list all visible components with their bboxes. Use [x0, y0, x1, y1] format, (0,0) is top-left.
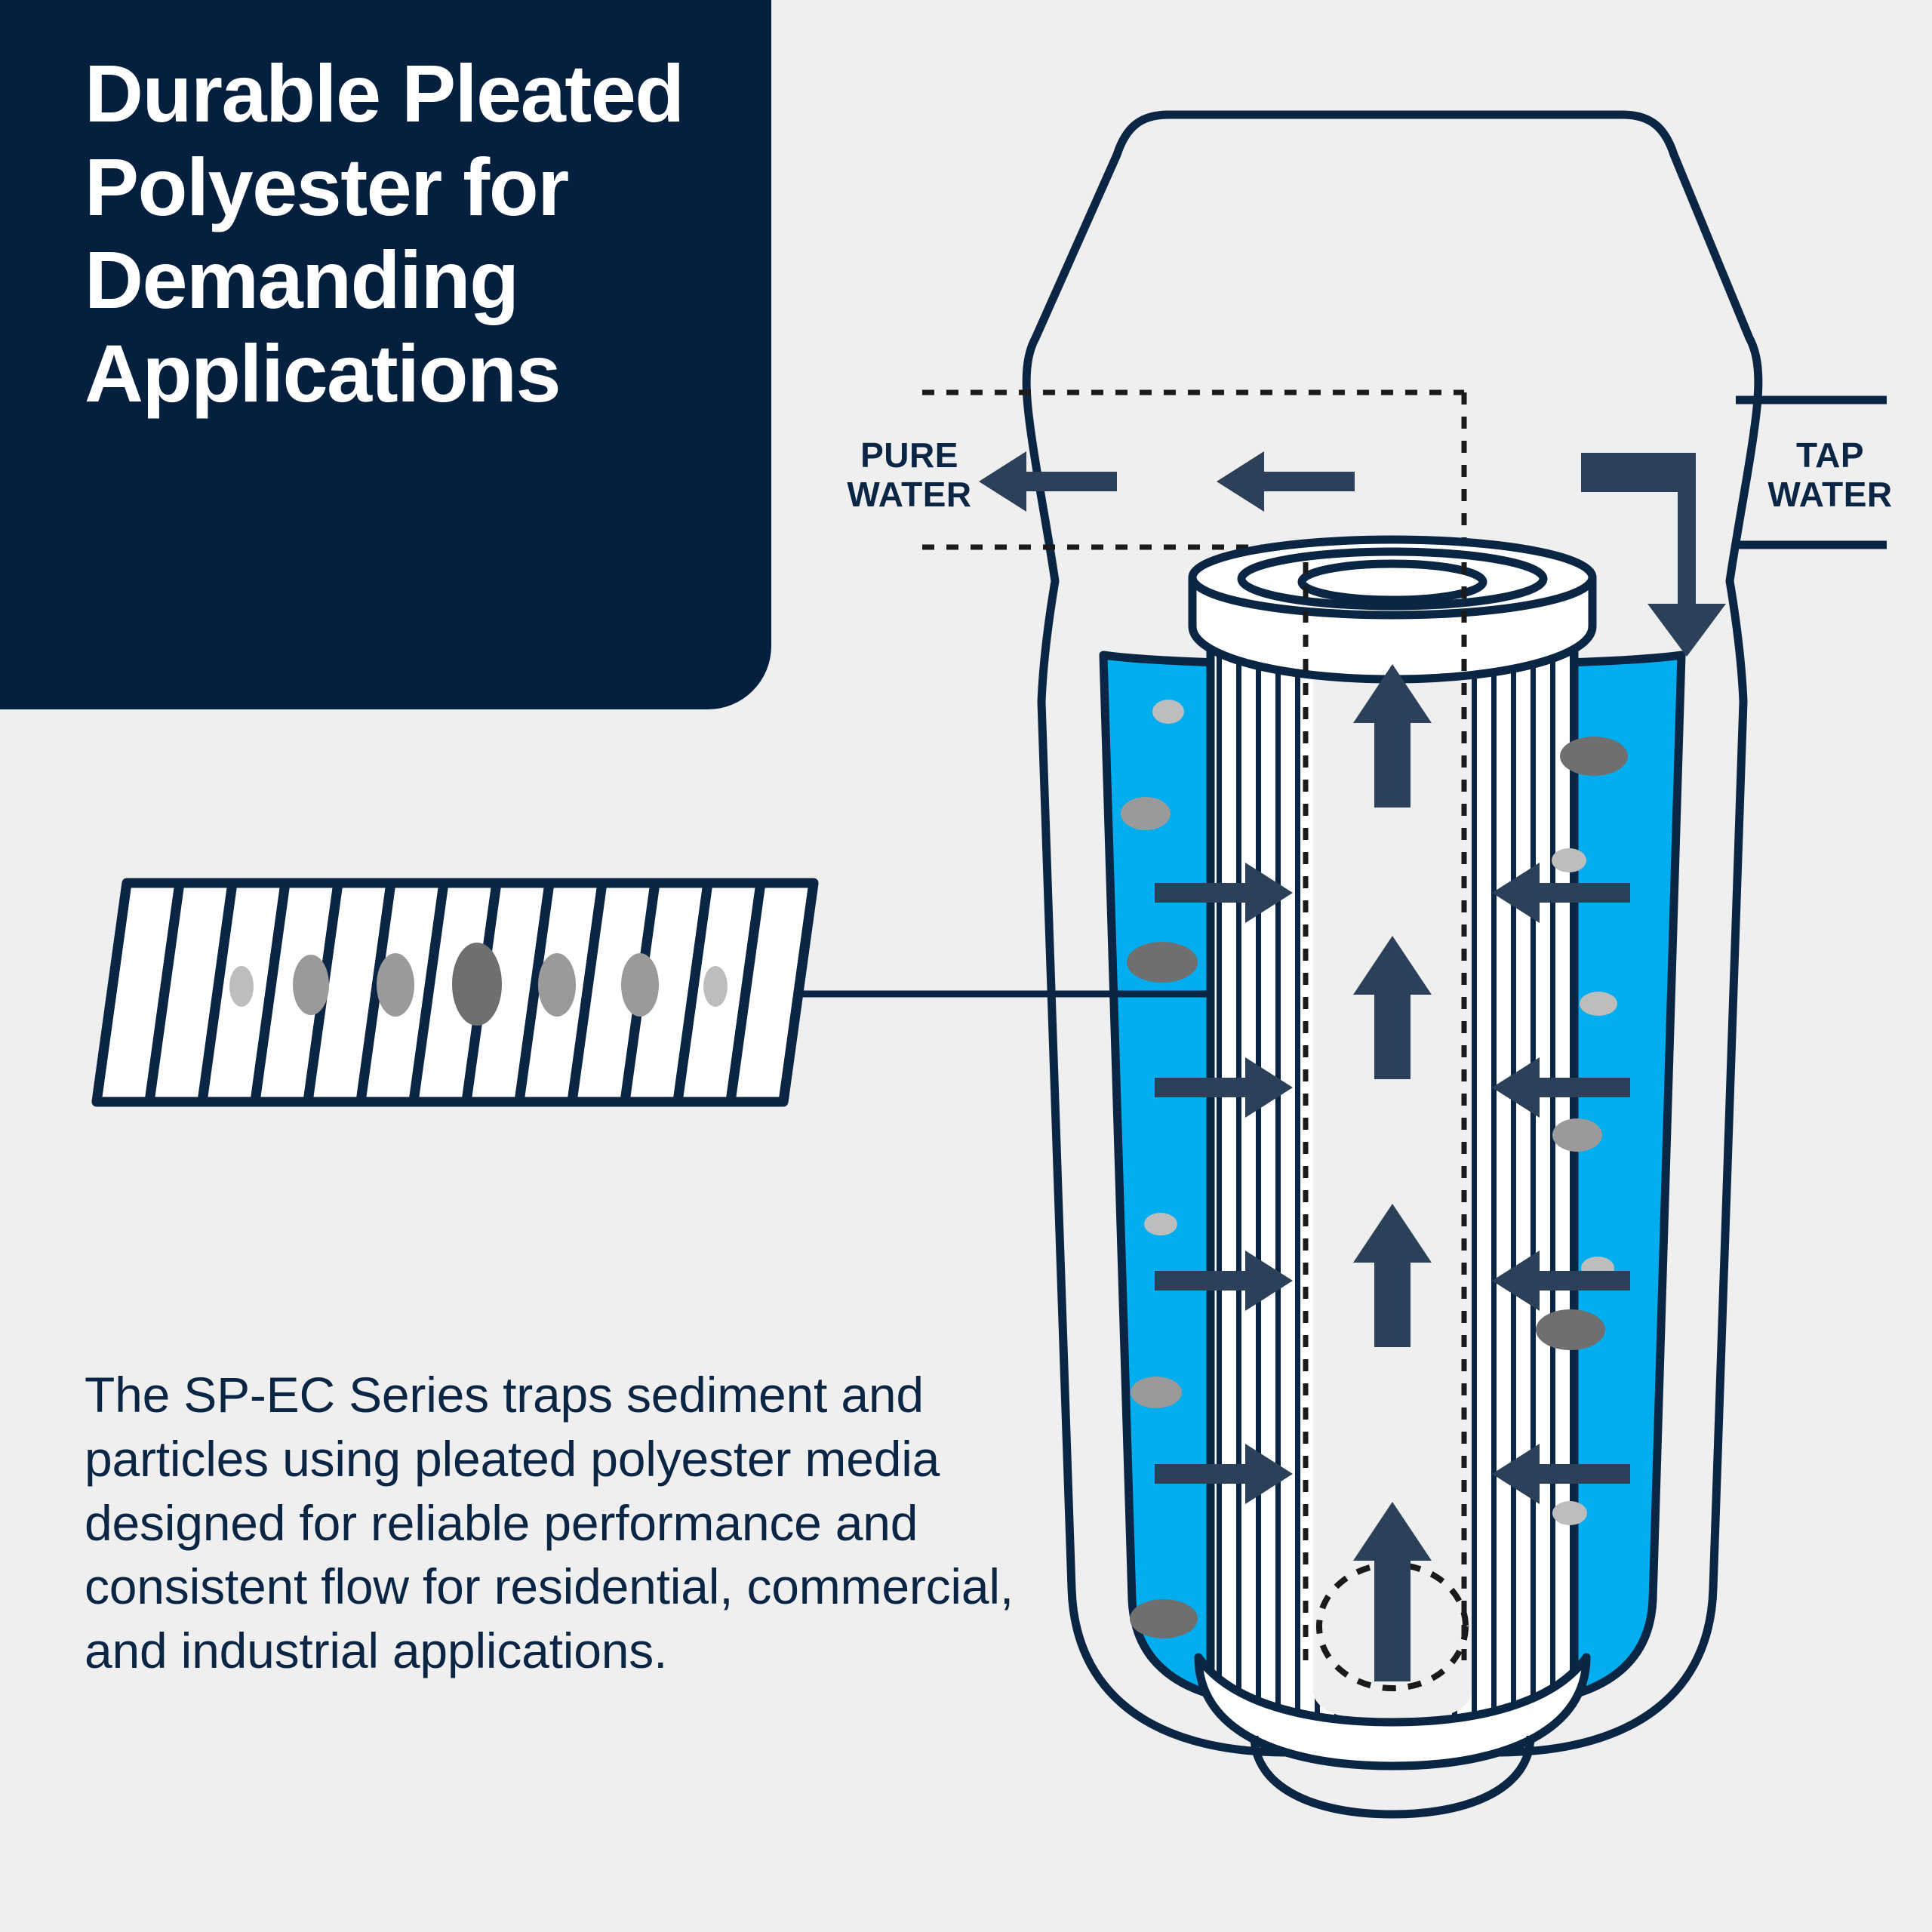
- infographic-canvas: Durable Pleated Polyester for Demanding …: [0, 0, 1932, 1932]
- label-pure-water: PURE WATER: [823, 436, 996, 514]
- label-pure-water-line2: WATER: [823, 475, 996, 515]
- title-card: Durable Pleated Polyester for Demanding …: [0, 0, 771, 709]
- housing-cap-outline: [1026, 115, 1758, 581]
- label-pure-water-line1: PURE: [823, 436, 996, 475]
- label-tap-water-line1: TAP: [1743, 436, 1917, 475]
- pleat-closeup: [97, 883, 814, 1102]
- label-tap-water-line2: WATER: [1743, 475, 1917, 515]
- page-title: Durable Pleated Polyester for Demanding …: [85, 47, 726, 420]
- label-tap-water: TAP WATER: [1743, 436, 1917, 514]
- flow-arrow-tap-water-in: [1581, 453, 1726, 657]
- cartridge-top-endcap: [1192, 540, 1592, 679]
- body-paragraph: The SP-EC Series traps sediment and part…: [85, 1363, 1073, 1683]
